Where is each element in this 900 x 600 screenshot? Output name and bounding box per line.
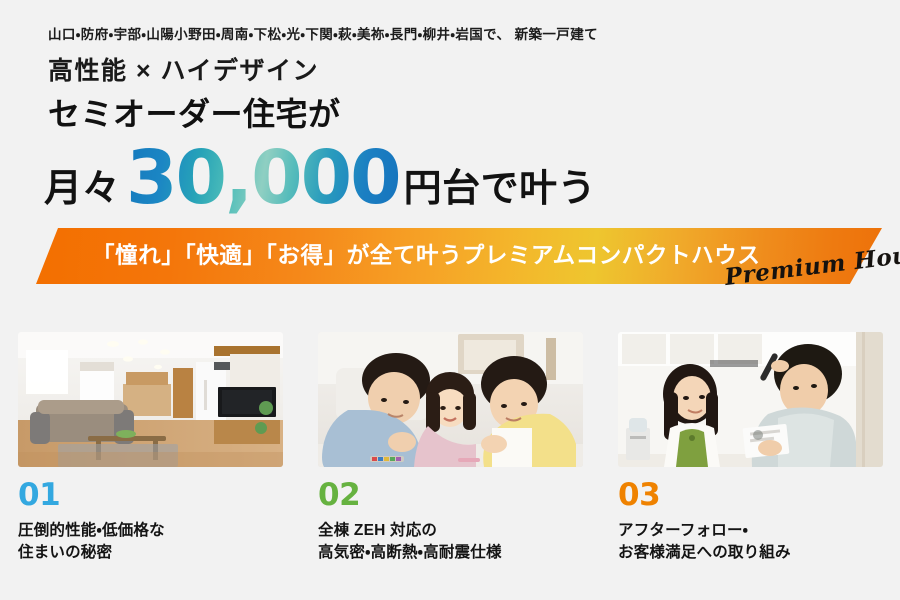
price-amount: 30,000 <box>126 141 400 215</box>
feature-card-number-02: 02 <box>318 480 582 511</box>
family-on-floor-photo <box>318 332 583 467</box>
header-text-block: 山口・防府・宇部・山陽小野田・周南・下松・光・下関・萩・美祢・長門・柳井・岩国で… <box>48 28 878 130</box>
feature-card-title-01: 圧倒的性能・低価格な 住まいの秘密 <box>18 520 282 565</box>
catch-copy-line: 高性能 × ハイデザイン <box>48 59 878 84</box>
feature-card-title-03: アフターフォロー・ お客様満足への取り組み <box>618 520 882 565</box>
price-suffix-label: 円台で叶う <box>404 170 597 208</box>
sub-headline: セミオーダー住宅が <box>48 98 878 130</box>
feature-card-01[interactable]: 01 圧倒的性能・低価格な 住まいの秘密 <box>0 332 300 565</box>
banner-label: 「憧れ」「快適」「お得」が全て叶うプレミアムコンパクトハウス <box>92 240 760 272</box>
price-headline: 月々 30,000 円台で叶う <box>44 141 596 215</box>
feature-card-03[interactable]: 03 アフターフォロー・ お客様満足への取り組み <box>600 332 900 565</box>
feature-card-number-03: 03 <box>618 480 882 511</box>
feature-card-title-02: 全棟 ZEH 対応の 高気密・高断熱・高耐震仕様 <box>318 520 582 565</box>
price-prefix-label: 月々 <box>44 170 120 208</box>
living-room-interior-photo <box>18 332 283 467</box>
service-area-line: 山口・防府・宇部・山陽小野田・周南・下松・光・下関・萩・美祢・長門・柳井・岩国で… <box>48 28 878 42</box>
staff-consultation-photo <box>618 332 883 467</box>
feature-card-list: 01 圧倒的性能・低価格な 住まいの秘密 <box>0 332 900 565</box>
feature-card-02[interactable]: 02 全棟 ZEH 対応の 高気密・高断熱・高耐震仕様 <box>300 332 600 565</box>
feature-card-number-01: 01 <box>18 480 282 511</box>
